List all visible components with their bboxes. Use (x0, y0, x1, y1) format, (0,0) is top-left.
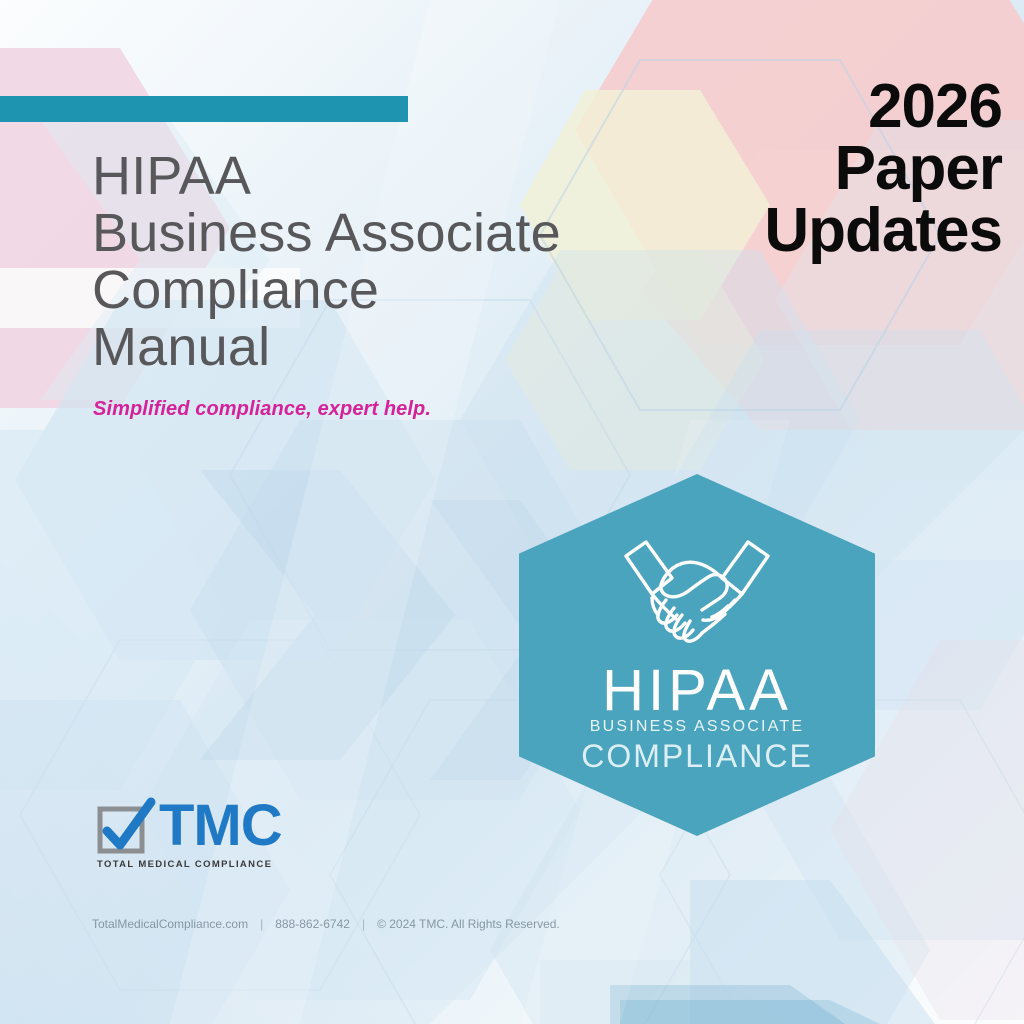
title-line-1: HIPAA (92, 148, 712, 205)
tmc-wordmark: TMC (159, 797, 282, 855)
tmc-logo-tagline: TOTAL MEDICAL COMPLIANCE (97, 859, 282, 870)
checkbox-checkmark-icon (95, 795, 157, 857)
footer-contact-bar: TotalMedicalCompliance.com | 888-862-674… (92, 917, 560, 931)
title-line-3: Compliance (92, 262, 712, 319)
title-line-4: Manual (92, 319, 712, 376)
paper-updates-callout: 2026 Paper Updates (764, 76, 1002, 262)
cover-artwork: HIPAA Business Associate Compliance Manu… (0, 0, 1024, 1024)
cover-title: HIPAA Business Associate Compliance Manu… (92, 148, 712, 376)
handshake-icon (602, 520, 792, 652)
footer-separator-1: | (260, 917, 263, 931)
seal-title: HIPAA (602, 662, 792, 720)
seal-subtitle: BUSINESS ASSOCIATE (590, 718, 804, 736)
hipaa-business-associate-seal: HIPAA BUSINESS ASSOCIATE COMPLIANCE (519, 474, 875, 836)
tmc-logo: TMC TOTAL MEDICAL COMPLIANCE (95, 795, 282, 870)
updates-year: 2026 (764, 76, 1002, 138)
title-line-2: Business Associate (92, 205, 712, 262)
cover-tagline: Simplified compliance, expert help. (93, 398, 431, 421)
updates-word-updates: Updates (764, 200, 1002, 262)
updates-word-paper: Paper (764, 138, 1002, 200)
footer-separator-2: | (362, 917, 365, 931)
footer-website[interactable]: TotalMedicalCompliance.com (92, 917, 248, 931)
teal-accent-bar (0, 96, 408, 122)
seal-subtitle-secondary: COMPLIANCE (581, 738, 813, 775)
footer-copyright: © 2024 TMC. All Rights Reserved. (377, 917, 560, 931)
footer-phone[interactable]: 888-862-6742 (275, 917, 350, 931)
